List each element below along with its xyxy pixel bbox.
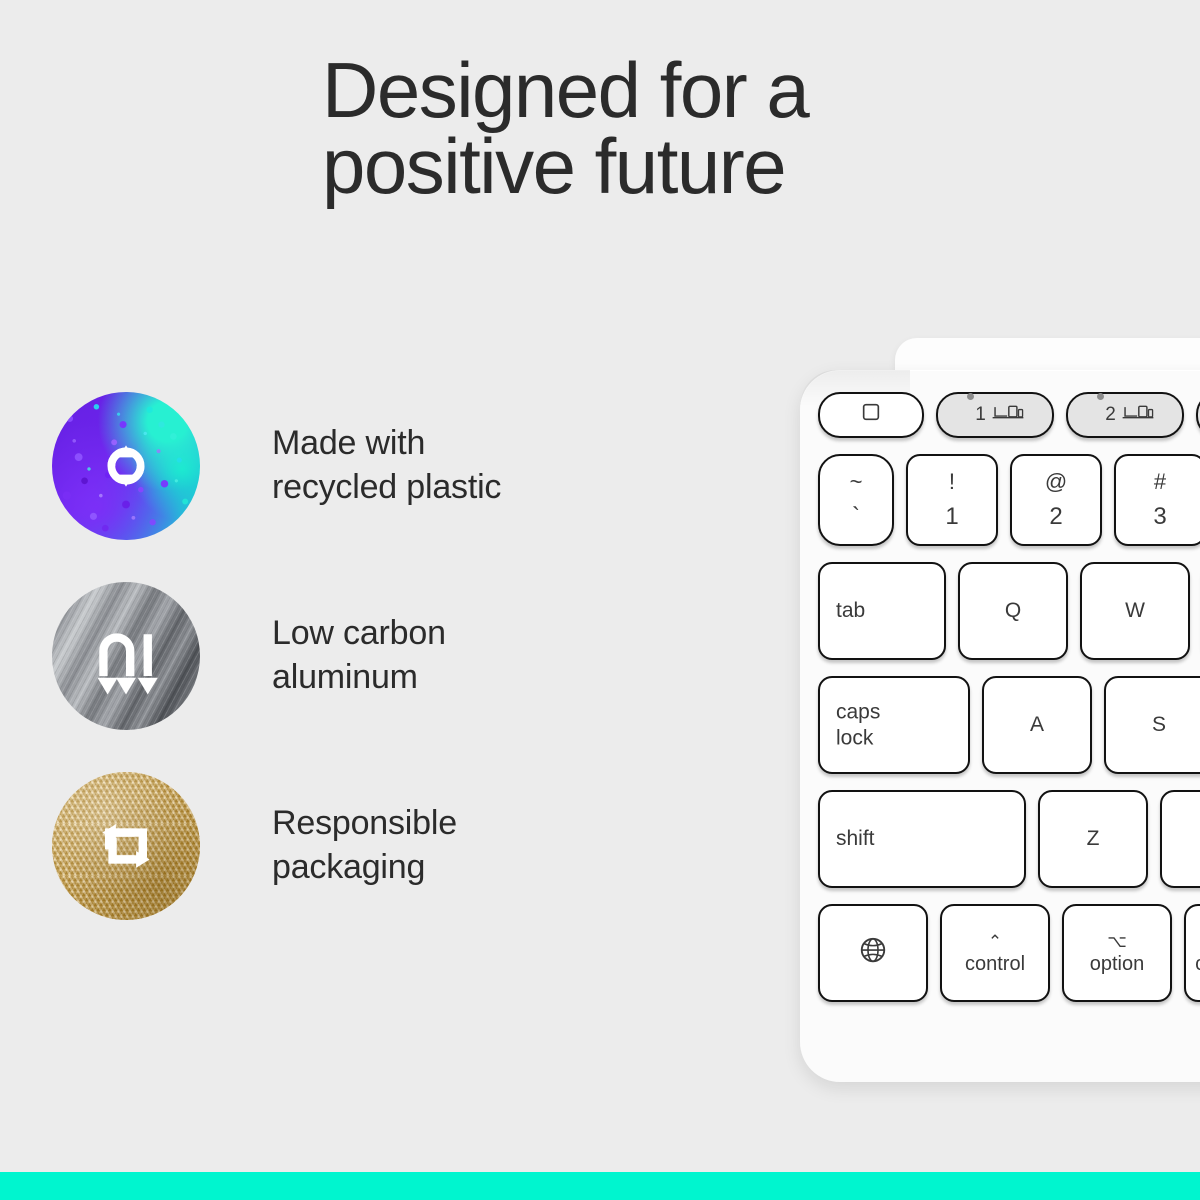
key-label: W [1125, 599, 1145, 623]
key-caps-lock[interactable]: caps lock [818, 676, 970, 774]
list-item: Low carbon aluminum [52, 582, 672, 730]
keyboard-row-numbers: ~ ` ! 1 @ 2 # 3 [818, 454, 1200, 546]
key-command[interactable]: ⌘ command [1184, 904, 1200, 1002]
key-top-label: ! [949, 471, 955, 493]
keyboard-row-tab: tab Q W E [818, 562, 1200, 660]
square-recycle-loop-icon [52, 772, 200, 920]
key-label: caps lock [836, 699, 880, 750]
key-shift[interactable]: shift [818, 790, 1026, 888]
key-top-label: # [1154, 471, 1166, 493]
keyboard-keys: 1 2 [818, 392, 1200, 1072]
key-bottom-label: ` [852, 505, 860, 529]
bottom-accent-bar [0, 1172, 1200, 1200]
easyswitch-number: 1 [975, 404, 986, 426]
key-esc[interactable] [818, 392, 924, 438]
led-dot-icon [1097, 393, 1104, 400]
key-s[interactable]: S [1104, 676, 1200, 774]
key-globe[interactable] [818, 904, 928, 1002]
key-w[interactable]: W [1080, 562, 1190, 660]
key-label: option [1090, 954, 1145, 974]
keyboard-row-shift: shift Z X [818, 790, 1200, 888]
control-symbol: ⌃ [988, 933, 1002, 950]
globe-icon [858, 935, 888, 971]
key-label: shift [836, 826, 875, 852]
key-label: command [1195, 954, 1200, 974]
key-top-label: ~ [850, 471, 863, 493]
key-easyswitch-1[interactable]: 1 [936, 392, 1054, 438]
easyswitch-number: 2 [1105, 404, 1116, 426]
key-label: tab [836, 598, 865, 624]
key-3[interactable]: # 3 [1114, 454, 1200, 546]
key-label: Z [1087, 827, 1100, 851]
recycled-plastic-icon [52, 392, 200, 540]
key-z[interactable]: Z [1038, 790, 1148, 888]
key-bottom-label: 1 [945, 505, 958, 529]
list-item: Made with recycled plastic [52, 392, 672, 540]
rounded-square-icon [860, 401, 882, 429]
key-1[interactable]: ! 1 [906, 454, 998, 546]
list-item-label: Made with recycled plastic [272, 422, 501, 509]
circular-arrows-loop-icon [52, 392, 200, 540]
led-dot-icon [967, 393, 974, 400]
page-title: Designed for a positive future [322, 52, 1022, 205]
key-label: S [1152, 713, 1166, 737]
keyboard-row-modifiers: ⌃ control ⌥ option ⌘ command [818, 904, 1200, 1002]
keyboard-row-home: caps lock A S D [818, 676, 1200, 774]
key-label: A [1030, 713, 1044, 737]
key-a[interactable]: A [982, 676, 1092, 774]
option-symbol: ⌥ [1107, 933, 1127, 950]
key-control[interactable]: ⌃ control [940, 904, 1050, 1002]
list-item-label: Responsible packaging [272, 802, 457, 889]
low-carbon-aluminum-icon [52, 582, 200, 730]
key-top-label: @ [1045, 471, 1067, 493]
key-label: control [965, 954, 1025, 974]
key-label: Q [1005, 599, 1021, 623]
key-bottom-label: 3 [1153, 505, 1166, 529]
devices-icon [991, 402, 1025, 428]
key-2[interactable]: @ 2 [1010, 454, 1102, 546]
keyboard-row-function: 1 2 [818, 392, 1200, 438]
list-item: Responsible packaging [52, 772, 672, 920]
devices-icon [1121, 402, 1155, 428]
key-easyswitch-2[interactable]: 2 [1066, 392, 1184, 438]
list-item-label: Low carbon aluminum [272, 612, 446, 699]
feature-list: Made with recycled plastic Low carbon al… [52, 392, 672, 920]
keyboard-product-image: 1 2 [790, 330, 1200, 1092]
key-x[interactable]: X [1160, 790, 1200, 888]
al-down-arrows-icon [52, 582, 200, 730]
key-q[interactable]: Q [958, 562, 1068, 660]
key-option[interactable]: ⌥ option [1062, 904, 1172, 1002]
key-tab[interactable]: tab [818, 562, 946, 660]
key-easyswitch-3[interactable]: 3 [1196, 392, 1200, 438]
responsible-packaging-icon [52, 772, 200, 920]
key-backtick[interactable]: ~ ` [818, 454, 894, 546]
key-bottom-label: 2 [1049, 505, 1062, 529]
